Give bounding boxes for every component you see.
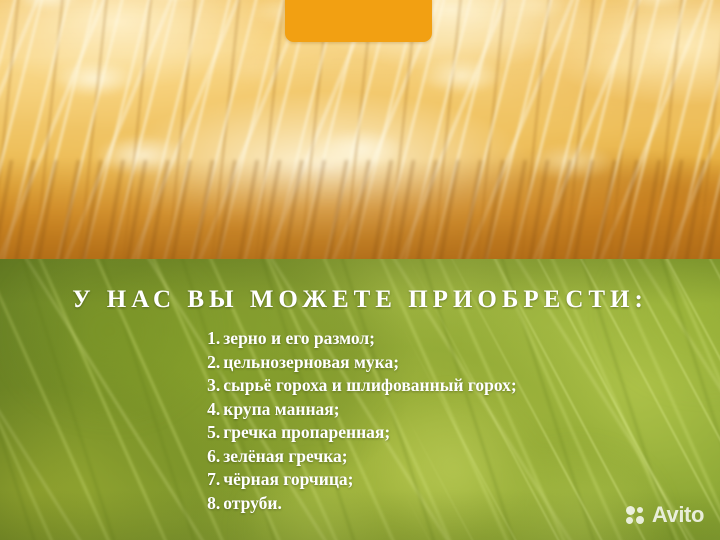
list-item-label: гречка пропаренная; (223, 422, 390, 442)
list-item-label: зелёная гречка; (223, 446, 347, 466)
list-item: 8.отруби. (203, 492, 516, 516)
list-item-label: сырьё гороха и шлифованный горох; (223, 375, 516, 395)
list-item-number: 3. (203, 374, 220, 398)
advert-poster: У НАС ВЫ МОЖЕТЕ ПРИОБРЕСТИ: 1.зерно и ег… (0, 0, 720, 540)
list-item-number: 5. (203, 421, 220, 445)
list-item: 4.крупа манная; (203, 398, 516, 422)
list-item-number: 7. (203, 468, 220, 492)
list-item-number: 1. (203, 327, 220, 351)
product-list-inner: 1.зерно и его размол; 2.цельнозерновая м… (203, 327, 516, 515)
list-item: 3.сырьё гороха и шлифованный горох; (203, 374, 516, 398)
list-item-number: 2. (203, 351, 220, 375)
list-item: 6.зелёная гречка; (203, 445, 516, 469)
list-item-label: зерно и его размол; (223, 328, 375, 348)
list-item-number: 6. (203, 445, 220, 469)
list-item: 1.зерно и его размол; (203, 327, 516, 351)
list-item-label: отруби. (223, 493, 282, 513)
avito-watermark: Avito (626, 504, 704, 526)
list-item: 5.гречка пропаренная; (203, 421, 516, 445)
product-list: 1.зерно и его размол; 2.цельнозерновая м… (0, 327, 720, 515)
poster-content: У НАС ВЫ МОЖЕТЕ ПРИОБРЕСТИ: 1.зерно и ег… (0, 0, 720, 540)
list-item: 7.чёрная горчица; (203, 468, 516, 492)
list-item: 2.цельнозерновая мука; (203, 351, 516, 375)
avito-dots-icon (626, 506, 647, 525)
list-item-label: крупа манная; (223, 399, 339, 419)
headline: У НАС ВЫ МОЖЕТЕ ПРИОБРЕСТИ: (0, 287, 720, 312)
list-item-number: 8. (203, 492, 220, 516)
avito-wordmark: Avito (652, 504, 704, 526)
list-item-label: цельнозерновая мука; (223, 352, 399, 372)
list-item-label: чёрная горчица; (223, 469, 353, 489)
list-item-number: 4. (203, 398, 220, 422)
orange-banner-tab (285, 0, 432, 42)
